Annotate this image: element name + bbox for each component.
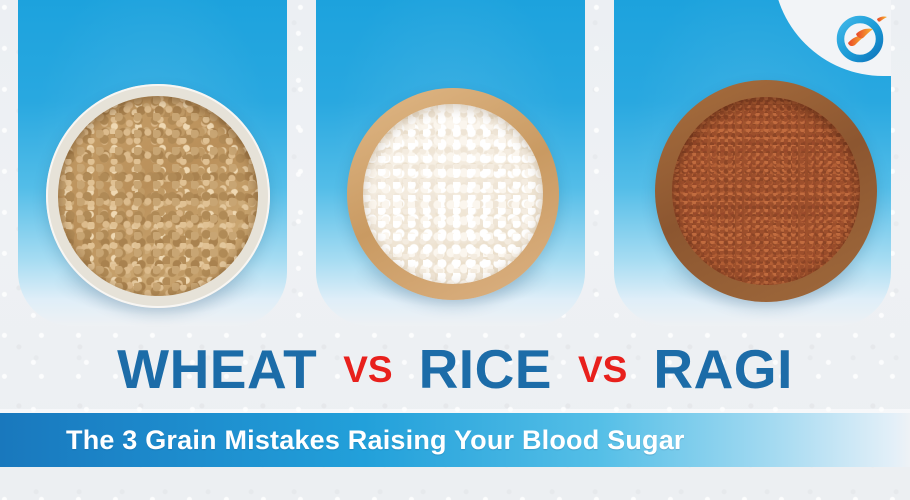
- wheat-bowl[interactable]: [46, 84, 270, 308]
- subtitle-text: The 3 Grain Mistakes Raising Your Blood …: [66, 425, 685, 456]
- headline-vs-1: VS: [343, 351, 392, 388]
- subtitle-banner: The 3 Grain Mistakes Raising Your Blood …: [0, 413, 910, 467]
- ragi-grains: [672, 97, 860, 285]
- headline-word-rice: RICE: [419, 342, 552, 397]
- headline-vs-2: VS: [578, 351, 627, 388]
- wheat-grains: [58, 96, 258, 296]
- headline: WHEAT VS RICE VS RAGI: [0, 330, 910, 408]
- grain-panels: [0, 0, 910, 345]
- headline-word-ragi: RAGI: [653, 342, 793, 397]
- ragi-bowl[interactable]: [655, 80, 877, 302]
- rice-grains: [363, 104, 543, 284]
- bird-glyph: [848, 29, 873, 46]
- small-bird-glyph: [877, 17, 887, 22]
- headline-word-wheat: WHEAT: [117, 342, 317, 397]
- poster-root: WHEAT VS RICE VS RAGI The 3 Grain Mistak…: [0, 0, 910, 500]
- brand-logo[interactable]: [830, 8, 892, 70]
- rice-bowl[interactable]: [347, 88, 559, 300]
